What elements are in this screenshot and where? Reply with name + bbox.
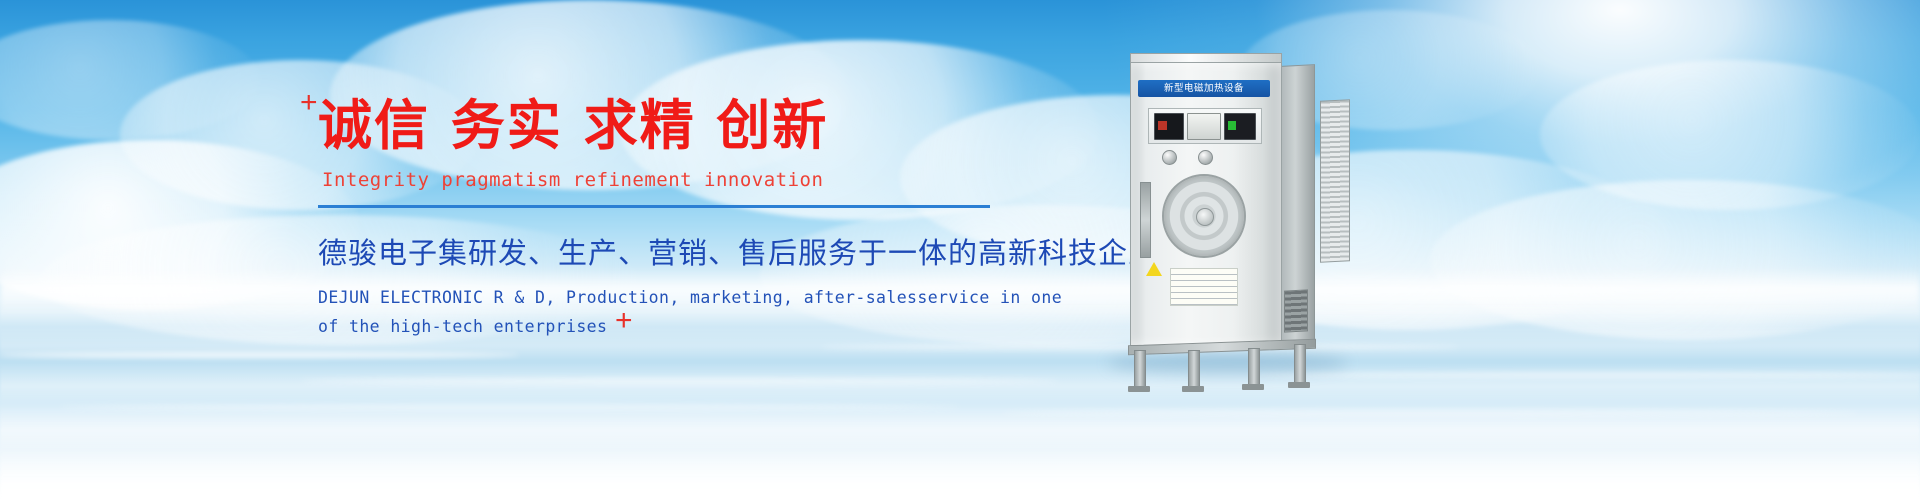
warning-triangle-icon bbox=[1146, 262, 1162, 276]
machine-spec-sticker bbox=[1170, 268, 1238, 306]
plus-mark-icon: + bbox=[300, 88, 318, 118]
banner-text-block: 诚信 务实 求精 创新 Integrity pragmatism refinem… bbox=[318, 96, 1018, 342]
wave-streak bbox=[300, 378, 1060, 384]
machine-knob bbox=[1162, 150, 1177, 165]
machine-knob-group bbox=[1158, 150, 1248, 164]
machine-foot bbox=[1242, 384, 1264, 390]
machine-leg bbox=[1188, 350, 1200, 390]
machine-display-left bbox=[1154, 113, 1184, 140]
machine-brand-label: 新型电磁加热设备 bbox=[1138, 80, 1270, 97]
wave-streak bbox=[60, 404, 960, 410]
wave-streak bbox=[1250, 372, 1920, 378]
headline-english: Integrity pragmatism refinement innovati… bbox=[322, 169, 1018, 191]
promotional-banner: + + 诚信 务实 求精 创新 Integrity pragmatism ref… bbox=[0, 0, 1920, 500]
machine-display-right bbox=[1224, 113, 1256, 140]
machine-left-bar bbox=[1140, 182, 1151, 258]
tagline-chinese: 德骏电子集研发、生产、营销、售后服务于一体的高新科技企业 bbox=[318, 230, 1018, 272]
divider-rule bbox=[318, 205, 990, 208]
machine-leg bbox=[1134, 350, 1146, 390]
tagline-english-line-1: DEJUN ELECTRONIC R & D, Production, mark… bbox=[318, 284, 1018, 313]
machine-foot bbox=[1288, 382, 1310, 388]
tagline-english-line-2: of the high-tech enterprises bbox=[318, 313, 1018, 342]
machine-side-vent bbox=[1284, 289, 1308, 332]
machine-knob bbox=[1198, 150, 1213, 165]
machine-foot bbox=[1128, 386, 1150, 392]
headline-chinese: 诚信 务实 求精 创新 bbox=[318, 96, 1018, 155]
machine-fan-grille bbox=[1162, 174, 1246, 258]
product-machine-image: 新型电磁加热设备 bbox=[1124, 62, 1320, 362]
wave-streak bbox=[0, 352, 520, 358]
machine-rear-vents bbox=[1320, 99, 1350, 263]
wave-streak bbox=[1000, 410, 1860, 416]
machine-control-panel bbox=[1148, 108, 1262, 144]
machine-foot bbox=[1182, 386, 1204, 392]
machine-gauge-center bbox=[1187, 113, 1221, 140]
cloud-decoration bbox=[1540, 60, 1920, 210]
